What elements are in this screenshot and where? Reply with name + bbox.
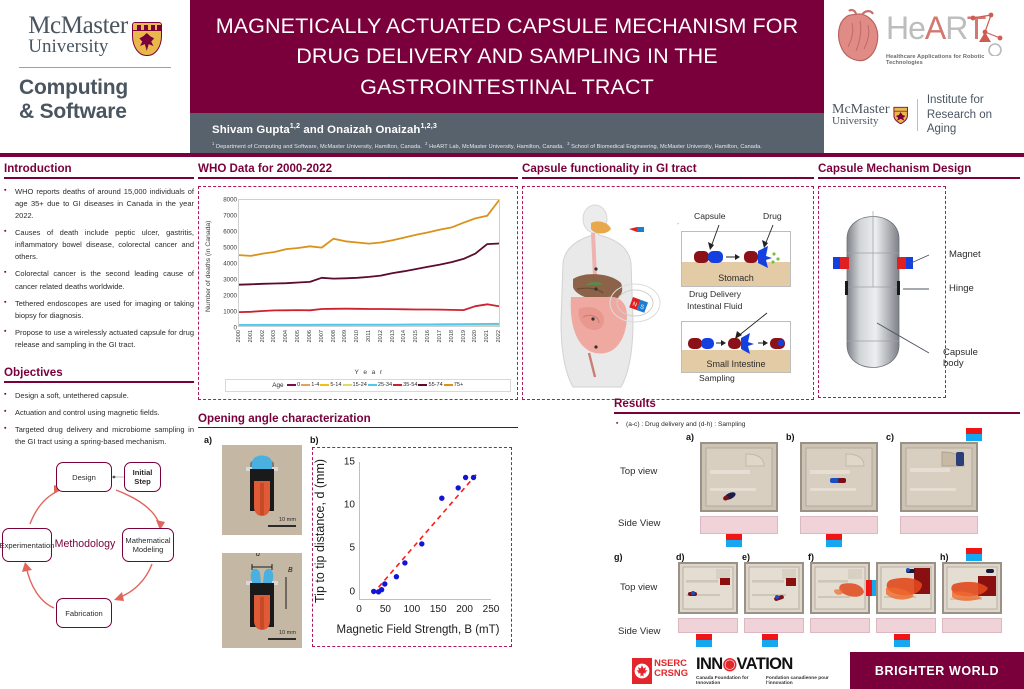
x-tick: 2005 — [295, 330, 301, 342]
who-chart-dashed-frame: Number of deaths (in Canada) 01000200030… — [198, 186, 518, 400]
who-panel-heading: WHO Data for 2000-2022 — [198, 162, 518, 177]
scale-bar — [268, 638, 296, 641]
sideview-image-f — [810, 618, 870, 633]
legend-item: 25-34 — [368, 382, 392, 388]
department-line1: Computing — [19, 76, 171, 100]
sideview-image-e — [744, 618, 804, 633]
anatomical-heart-icon — [832, 7, 886, 65]
magnet-indicator-h — [966, 548, 982, 561]
gi-panel-heading: Capsule functionality in GI tract — [522, 162, 814, 177]
maple-leaf-icon — [634, 663, 650, 679]
heart-logo-robotics-accent — [965, 12, 1017, 56]
x-tick: 250 — [483, 604, 500, 615]
legend-item: 1-4 — [301, 382, 319, 388]
row-label-side-view-1: Side View — [618, 518, 661, 529]
scatter-points-and-fit — [360, 462, 492, 600]
cfi-subtitle-en: Canada Foundation for Innovation — [696, 676, 760, 688]
results-row-1: Top view Side View a) b) — [614, 432, 1020, 546]
x-tick: 2017 — [437, 330, 443, 342]
x-tick: 150 — [430, 604, 447, 615]
mcmaster-crest-icon — [132, 22, 162, 58]
x-tick: 2015 — [413, 330, 419, 342]
methodology-node-mathematical-modeling: Mathematical Modeling — [122, 528, 174, 562]
legend-swatch — [287, 384, 296, 386]
poster-title: MAGNETICALLY ACTUATED CAPSULE MECHANISM … — [190, 11, 824, 103]
brighter-world-text: BRIGHTER WORLD — [875, 664, 999, 678]
maze-top-view-b — [802, 444, 876, 510]
x-tick: 0 — [356, 604, 362, 615]
x-tick: 2018 — [449, 330, 455, 342]
maze-top-view-d — [680, 564, 736, 612]
column-who-chart: WHO Data for 2000-2022 Number of deaths … — [198, 162, 518, 663]
x-tick: 2003 — [271, 330, 277, 342]
legend-item: 0 — [287, 382, 300, 388]
scatter-plot: Tip to tip distance, d (mm) 051015 05010… — [315, 450, 511, 646]
sideview-image-d — [678, 618, 738, 633]
logo-divider — [19, 67, 171, 68]
legend-item: 35-54 — [393, 382, 417, 388]
methodology-cycle-diagram: Design Initial Step Mathematical Modelin… — [4, 456, 194, 646]
legend-swatch — [444, 384, 453, 386]
label-sampling: Sampling — [699, 373, 735, 383]
legend-swatch — [320, 384, 329, 386]
ira-crest-icon — [893, 106, 908, 125]
label-capsule-body: Capsule body — [943, 347, 978, 369]
introduction-heading: Introduction — [4, 162, 194, 177]
capsule-mechanism-figure: Magnet Hinge Capsule body — [825, 193, 939, 391]
topview-image-g — [876, 562, 936, 614]
label-drug-delivery: Drug Delivery — [689, 289, 741, 299]
mcmaster-computing-software-logo: McMaster University Computing — [0, 0, 190, 153]
results-letter-e: e) — [742, 552, 750, 562]
mechanism-panel-heading: Capsule Mechanism Design — [818, 162, 1020, 177]
poster-root: McMaster University Computing — [0, 0, 1024, 689]
y-tick: 15 — [337, 457, 355, 468]
legend-label: 55-74 — [428, 382, 442, 388]
legend-label: 15-24 — [353, 382, 367, 388]
x-tick: 2020 — [472, 330, 478, 342]
department-line2: & Software — [19, 100, 171, 124]
header-bottom-rule — [0, 153, 1024, 157]
y-tick: 7000 — [223, 212, 237, 219]
x-tick: 2014 — [401, 330, 407, 342]
cfi-logo: INN◉VATION Canada Foundation for Innovat… — [696, 656, 836, 687]
list-item: Colorectal cancer is the second leading … — [4, 268, 194, 292]
x-tick: 2008 — [331, 330, 337, 342]
capsule-photo-open: d B 10 mm — [222, 553, 302, 648]
column-left: Introduction WHO reports deaths of aroun… — [4, 162, 194, 646]
capsule-photo-closed: 10 mm — [222, 445, 302, 535]
title-banner: MAGNETICALLY ACTUATED CAPSULE MECHANISM … — [190, 0, 824, 113]
y-tick: 2000 — [223, 292, 237, 299]
magnet-indicator-c — [966, 428, 982, 441]
gi-tract-figure: N S Stomach — [529, 193, 807, 393]
who-series-lines — [239, 200, 499, 326]
who-x-axis-ticks: 2000200120022003200420052006200720082009… — [238, 329, 500, 371]
topview-image-d — [678, 562, 738, 614]
who-x-axis-label: Y e a r — [238, 369, 500, 376]
x-tick: 2021 — [484, 330, 490, 342]
legend-label: 75+ — [454, 382, 464, 388]
x-tick: 2004 — [283, 330, 289, 342]
sideview-image-c — [900, 516, 978, 534]
legend-label: 1-4 — [311, 382, 319, 388]
legend-item: 55-74 — [418, 382, 442, 388]
gi-dashed-frame: N S Stomach — [522, 186, 814, 400]
scale-label: 10 mm — [279, 517, 296, 523]
x-tick: 2016 — [425, 330, 431, 342]
ira-mcmaster-wordmark: McMaster University — [832, 103, 890, 127]
objectives-heading: Objectives — [4, 366, 194, 381]
department-name: Computing & Software — [19, 76, 171, 123]
row-label-side-view-2: Side View — [618, 626, 661, 637]
panel-letter-a: a) — [204, 435, 212, 445]
y-tick: 5000 — [223, 244, 237, 251]
legend-item: 75+ — [444, 382, 464, 388]
maze-top-view-a — [702, 444, 776, 510]
y-tick: 1000 — [223, 308, 237, 315]
results-letter-c: c) — [886, 432, 894, 442]
university-name-line2: University — [28, 38, 128, 56]
footer-logos: NSERC CRSNG INN◉VATION Canada Foundation… — [610, 652, 1024, 689]
magnet-indicator-g — [894, 634, 910, 647]
legend-swatch — [393, 384, 402, 386]
scatter-plot-area — [359, 462, 491, 600]
poster-header: McMaster University Computing — [0, 0, 1024, 157]
affiliations: 1 Department of Computing and Software, … — [212, 141, 804, 151]
results-note: (a-c) : Drug delivery and (d-h) : Sampli… — [616, 421, 1020, 428]
x-tick: 2011 — [366, 330, 372, 342]
who-line-chart: Number of deaths (in Canada) 01000200030… — [205, 193, 511, 393]
results-heading: Results — [614, 397, 1020, 412]
x-tick: 2010 — [354, 330, 360, 342]
magnet-indicator-e — [762, 634, 778, 647]
list-item: Causes of death include peptic ulcer, ga… — [4, 227, 194, 263]
x-tick: 2019 — [461, 330, 467, 342]
y-tick: 4000 — [223, 260, 237, 267]
results-letter-b: b) — [786, 432, 795, 442]
results-letter-f: f) — [808, 552, 814, 562]
panel-letter-b: b) — [310, 435, 319, 445]
maze-top-view-h — [944, 564, 1000, 612]
who-y-axis-ticks: 010002000300040005000600070008000 — [218, 195, 237, 327]
sideview-image-h — [942, 618, 1002, 633]
topview-image-a — [700, 442, 778, 512]
legend-item: 15-24 — [343, 382, 367, 388]
list-item: WHO reports deaths of around 15,000 indi… — [4, 186, 194, 222]
x-tick: 2002 — [260, 330, 266, 342]
results-section: Results (a-c) : Drug delivery and (d-h) … — [614, 397, 1020, 660]
who-plot-area — [238, 199, 500, 327]
column-gi-tract: Capsule functionality in GI tract — [522, 162, 814, 400]
topview-image-c — [900, 442, 978, 512]
results-letter-a: a) — [686, 432, 694, 442]
opening-angle-heading: Opening angle characterization — [198, 412, 518, 427]
annotation-d: d — [256, 553, 260, 558]
author-list: Shivam Gupta1,2 and Onaizah Onaizah1,2,3 — [212, 121, 804, 136]
x-tick: 100 — [403, 604, 420, 615]
topview-image-f — [810, 562, 870, 614]
legend-swatch — [368, 384, 377, 386]
list-item: Propose to use a wirelessly actuated cap… — [4, 327, 194, 351]
opening-angle-figure: a) 10 mm — [198, 435, 516, 663]
human-body-anatomy-illustration: N S — [533, 201, 663, 391]
sideview-image-g — [876, 618, 936, 633]
methodology-node-experimentation: Experimentation — [2, 528, 52, 562]
legend-label: 35-54 — [403, 382, 417, 388]
x-tick: 50 — [380, 604, 391, 615]
results-letter-g: g) — [614, 552, 623, 562]
row-label-top-view-1: Top view — [620, 466, 657, 477]
sideview-image-b — [800, 516, 878, 534]
y-tick: 8000 — [223, 196, 237, 203]
results-row-2: Top view Side View d) e) — [614, 552, 1020, 660]
nserc-wordmark: NSERC CRSNG — [654, 658, 688, 684]
legend-item: 5-14 — [320, 382, 341, 388]
x-tick: 2013 — [390, 330, 396, 342]
y-tick: 0 — [337, 586, 355, 597]
heart-lab-logo: HeART Healthcare Applications for Roboti… — [830, 6, 1020, 84]
annotation-B: B — [288, 567, 293, 574]
who-y-axis-label: Number of deaths (in Canada) — [205, 201, 219, 331]
scatter-dashed-frame: Tip to tip distance, d (mm) 051015 05010… — [312, 447, 512, 647]
list-item: Tethered endoscopes are used for imaging… — [4, 298, 194, 322]
maze-top-view-c — [902, 444, 976, 510]
maze-top-view-f — [812, 564, 868, 612]
institute-research-aging-logo: McMaster University Institute for Resear… — [832, 92, 1020, 138]
legend-title: Age — [272, 382, 283, 389]
x-tick: 2012 — [378, 330, 384, 342]
methodology-center-label: Methodology — [46, 538, 124, 550]
objectives-bullets: Design a soft, untethered capsule. Actua… — [4, 390, 194, 449]
label-magnet: Magnet — [949, 249, 981, 260]
label-intestinal-fluid: Intestinal Fluid — [687, 301, 742, 311]
gi-inset-leader-lines — [677, 217, 797, 257]
who-chart-legend: Age 0 1-4 5-14 15-24 25-34 35-54 — [225, 379, 511, 392]
legend-swatch — [418, 384, 427, 386]
legend-label: 25-34 — [378, 382, 392, 388]
y-tick: 6000 — [223, 228, 237, 235]
results-letter-d: d) — [676, 552, 685, 562]
innovation-o-icon: ◉ — [723, 655, 737, 673]
scale-label: 10 mm — [279, 630, 296, 636]
label-hinge: Hinge — [949, 283, 974, 294]
authors-bar: Shivam Gupta1,2 and Onaizah Onaizah1,2,3… — [190, 113, 824, 157]
maze-top-view-e — [746, 564, 802, 612]
x-tick: 2006 — [307, 330, 313, 342]
scale-bar — [268, 525, 296, 528]
nserc-maple-leaf-icon — [632, 658, 652, 684]
list-item: Design a soft, untethered capsule. — [4, 390, 194, 402]
university-name-line1: McMaster — [28, 14, 128, 38]
innovation-wordmark: INN◉VATION — [696, 656, 836, 673]
magnet-indicator-d — [696, 634, 712, 647]
scatter-x-axis-label: Magnetic Field Strength, B (mT) — [323, 624, 513, 636]
methodology-node-design: Design — [56, 462, 112, 492]
x-tick: 2009 — [342, 330, 348, 342]
x-tick: 2007 — [319, 330, 325, 342]
legend-label: 0 — [297, 382, 300, 388]
methodology-node-fabrication: Fabrication — [56, 598, 112, 628]
results-letter-h: h) — [940, 552, 949, 562]
list-item: Targeted drug delivery and microbiome sa… — [4, 424, 194, 448]
y-tick: 5 — [337, 543, 355, 554]
y-tick: 10 — [337, 500, 355, 511]
mechanism-dashed-frame: Magnet Hinge Capsule body — [818, 186, 946, 398]
x-tick: 200 — [456, 604, 473, 615]
cfi-subtitle-fr: Fondation canadienne pour l'innovation — [766, 676, 830, 688]
x-tick: 2022 — [496, 330, 502, 342]
legend-swatch — [301, 384, 310, 386]
maze-top-view-g — [878, 564, 934, 612]
legend-swatch — [343, 384, 352, 386]
list-item: Actuation and control using magnetic fie… — [4, 407, 194, 419]
partner-logos: HeART Healthcare Applications for Roboti… — [824, 0, 1024, 153]
ira-name: Institute for Research on Aging — [927, 93, 1020, 136]
scatter-y-axis-label: Tip to tip distance, d (mm) — [313, 456, 329, 606]
topview-image-h — [942, 562, 1002, 614]
methodology-node-initial-step: Initial Step — [124, 462, 161, 492]
legend-label: 5-14 — [330, 382, 341, 388]
x-tick: 2001 — [248, 330, 254, 342]
magnet-indicator-b — [826, 534, 842, 547]
sideview-image-a — [700, 516, 778, 534]
x-tick: 2000 — [236, 330, 242, 342]
magnet-indicator-a — [726, 534, 742, 547]
capsule-3d-render — [825, 193, 939, 391]
row-label-top-view-2: Top view — [620, 582, 657, 593]
column-mechanism: Capsule Mechanism Design — [818, 162, 1020, 398]
brighter-world-banner: BRIGHTER WORLD — [850, 652, 1024, 689]
y-tick: 3000 — [223, 276, 237, 283]
introduction-bullets: WHO reports deaths of around 15,000 indi… — [4, 186, 194, 352]
intestinal-fluid-leader — [709, 311, 779, 341]
topview-image-e — [744, 562, 804, 614]
heart-logo-tagline: Healthcare Applications for Robotic Tech… — [886, 54, 1020, 66]
topview-image-b — [800, 442, 878, 512]
nserc-logo: NSERC CRSNG — [632, 658, 688, 684]
